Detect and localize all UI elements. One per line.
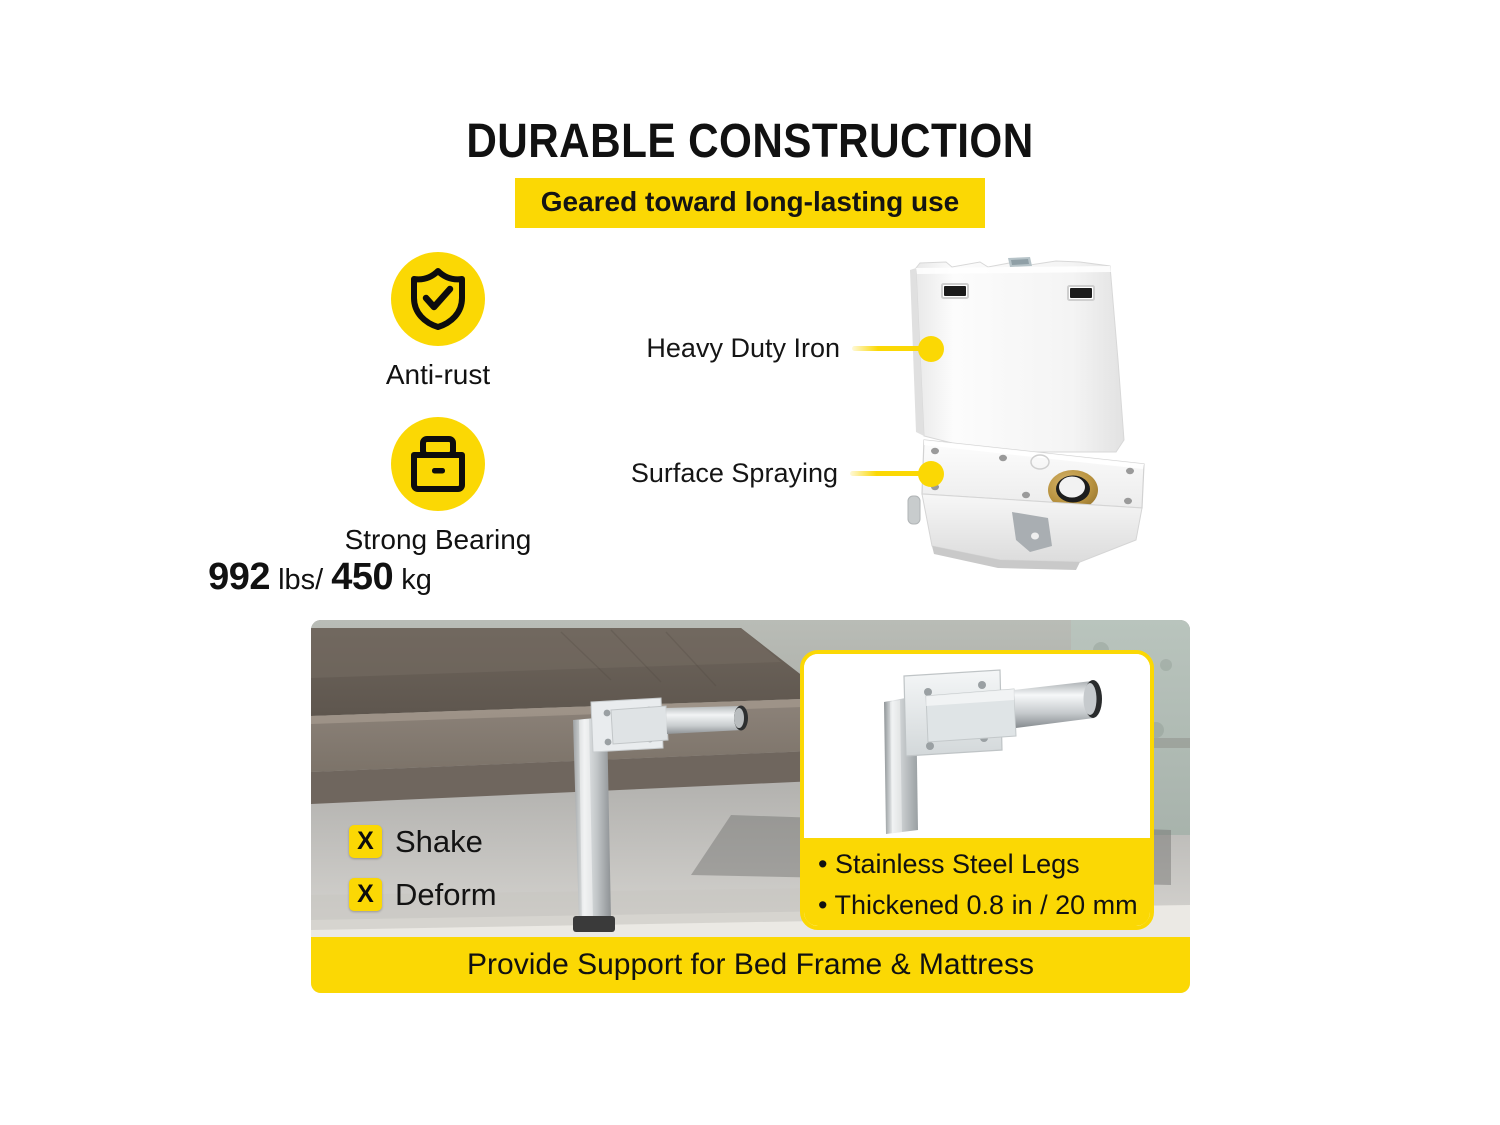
capacity-lbs-unit: lbs/ (278, 564, 323, 596)
bracket-product-image (880, 240, 1180, 580)
feature-anti-rust: Anti-rust (288, 252, 588, 391)
subtitle-banner: Geared toward long-lasting use (515, 178, 986, 228)
bottom-banner-text: Provide Support for Bed Frame & Mattress (467, 949, 1034, 981)
page-title: DURABLE CONSTRUCTION (90, 116, 1410, 168)
bottom-banner: Provide Support for Bed Frame & Mattress (311, 937, 1190, 993)
leader-dot-surface-spraying (918, 461, 944, 487)
x-mark-icon: X (349, 878, 382, 911)
leader-line-surface-spraying (850, 471, 926, 476)
negative-label-shake: Shake (395, 825, 483, 858)
capacity-lbs-number: 992 (208, 556, 270, 598)
leader-line-heavy-duty-iron (852, 346, 926, 351)
leader-dot-heavy-duty-iron (918, 336, 944, 362)
inset-bullet-1: • Thickened 0.8 in / 20 mm (818, 885, 1150, 926)
file-box-icon (391, 417, 485, 511)
callout-heavy-duty-iron: Heavy Duty Iron (630, 333, 960, 373)
negative-shake: X Shake (349, 825, 483, 858)
callout-label-heavy-duty-iron: Heavy Duty Iron (646, 333, 840, 363)
inset-bullet-0: • Stainless Steel Legs (818, 844, 1150, 885)
capacity-kg-number: 450 (331, 556, 393, 598)
negative-label-deform: Deform (395, 878, 497, 911)
capacity-value: 992 lbs/ 450 kg (0, 556, 640, 599)
inset-bullets: • Stainless Steel Legs • Thickened 0.8 i… (804, 838, 1150, 926)
leg-closeup-image (804, 654, 1150, 840)
feature-strong-bearing: Strong Bearing (288, 417, 588, 556)
x-mark-icon: X (349, 825, 382, 858)
capacity-kg-unit: kg (401, 564, 432, 596)
callout-label-surface-spraying: Surface Spraying (631, 458, 838, 488)
negative-deform: X Deform (349, 878, 497, 911)
inset-detail-card: • Stainless Steel Legs • Thickened 0.8 i… (800, 650, 1154, 930)
subtitle-banner-wrap: Geared toward long-lasting use (0, 178, 1500, 228)
lifestyle-photo-panel: X Shake X Deform (311, 620, 1190, 993)
feature-label-strong-bearing: Strong Bearing (288, 524, 588, 556)
callout-surface-spraying: Surface Spraying (630, 458, 960, 498)
feature-label-anti-rust: Anti-rust (288, 359, 588, 391)
shield-check-icon (391, 252, 485, 346)
infographic-root: DURABLE CONSTRUCTION Geared toward long-… (0, 0, 1500, 1125)
